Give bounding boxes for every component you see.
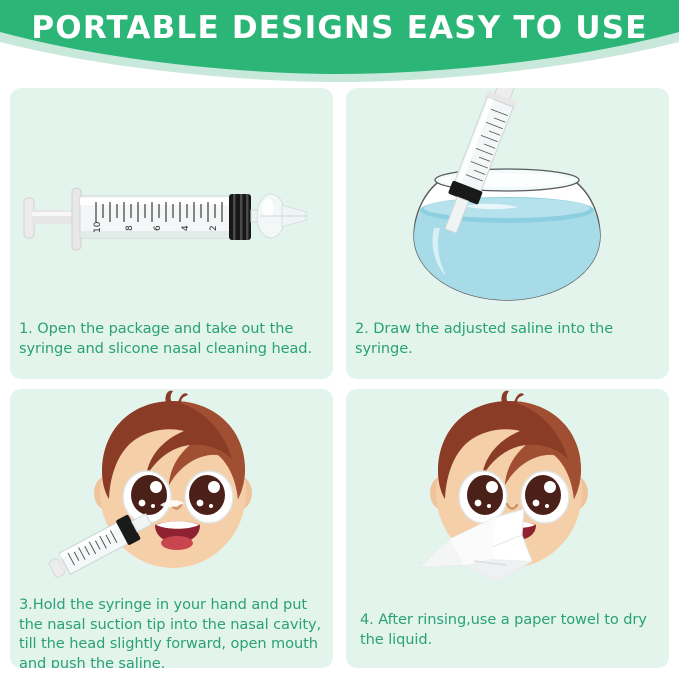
child-face-with-paper-towel-illustration — [346, 389, 669, 597]
step-caption-4: 4. After rinsing,use a paper towel to dr… — [360, 610, 662, 649]
right-eye — [521, 471, 569, 523]
syringe-with-nasal-tip-illustration: 10 8 6 4 2 — [10, 88, 333, 320]
header-banner: PORTABLE DESIGNS EASY TO USE — [0, 0, 679, 82]
bowl-water — [414, 210, 600, 300]
step-panel-1: 10 8 6 4 2 1. Open the p — [10, 88, 333, 379]
step-panel-4: 4. After rinsing,use a paper towel to dr… — [346, 389, 669, 668]
scale-label-8: 8 — [125, 225, 135, 231]
steps-grid: 10 8 6 4 2 1. Open the p — [10, 88, 669, 668]
child-face-with-syringe-in-nose-illustration — [10, 389, 333, 597]
scale-label-2: 2 — [209, 225, 219, 231]
silicone-nasal-tip — [257, 194, 306, 238]
step-panel-3: 3.Hold the syringe in your hand and put … — [10, 389, 333, 668]
scale-label-6: 6 — [153, 225, 163, 231]
scale-label-10: 10 — [93, 221, 103, 233]
page-title: PORTABLE DESIGNS EASY TO USE — [0, 6, 679, 50]
left-eye — [459, 471, 507, 523]
scale-label-4: 4 — [181, 225, 191, 231]
step-caption-1: 1. Open the package and take out the syr… — [19, 319, 326, 358]
syringe-black-stopper — [229, 194, 251, 240]
water-bowl — [414, 169, 600, 300]
syringe-plunger — [24, 188, 81, 250]
right-eye — [185, 471, 233, 523]
syringe-drawing-saline-from-bowl-illustration — [346, 88, 669, 320]
tongue — [161, 536, 193, 550]
step-caption-2: 2. Draw the adjusted saline into the syr… — [355, 319, 662, 358]
step-panel-2: 2. Draw the adjusted saline into the syr… — [346, 88, 669, 379]
step-caption-3: 3.Hold the syringe in your hand and put … — [19, 595, 326, 668]
